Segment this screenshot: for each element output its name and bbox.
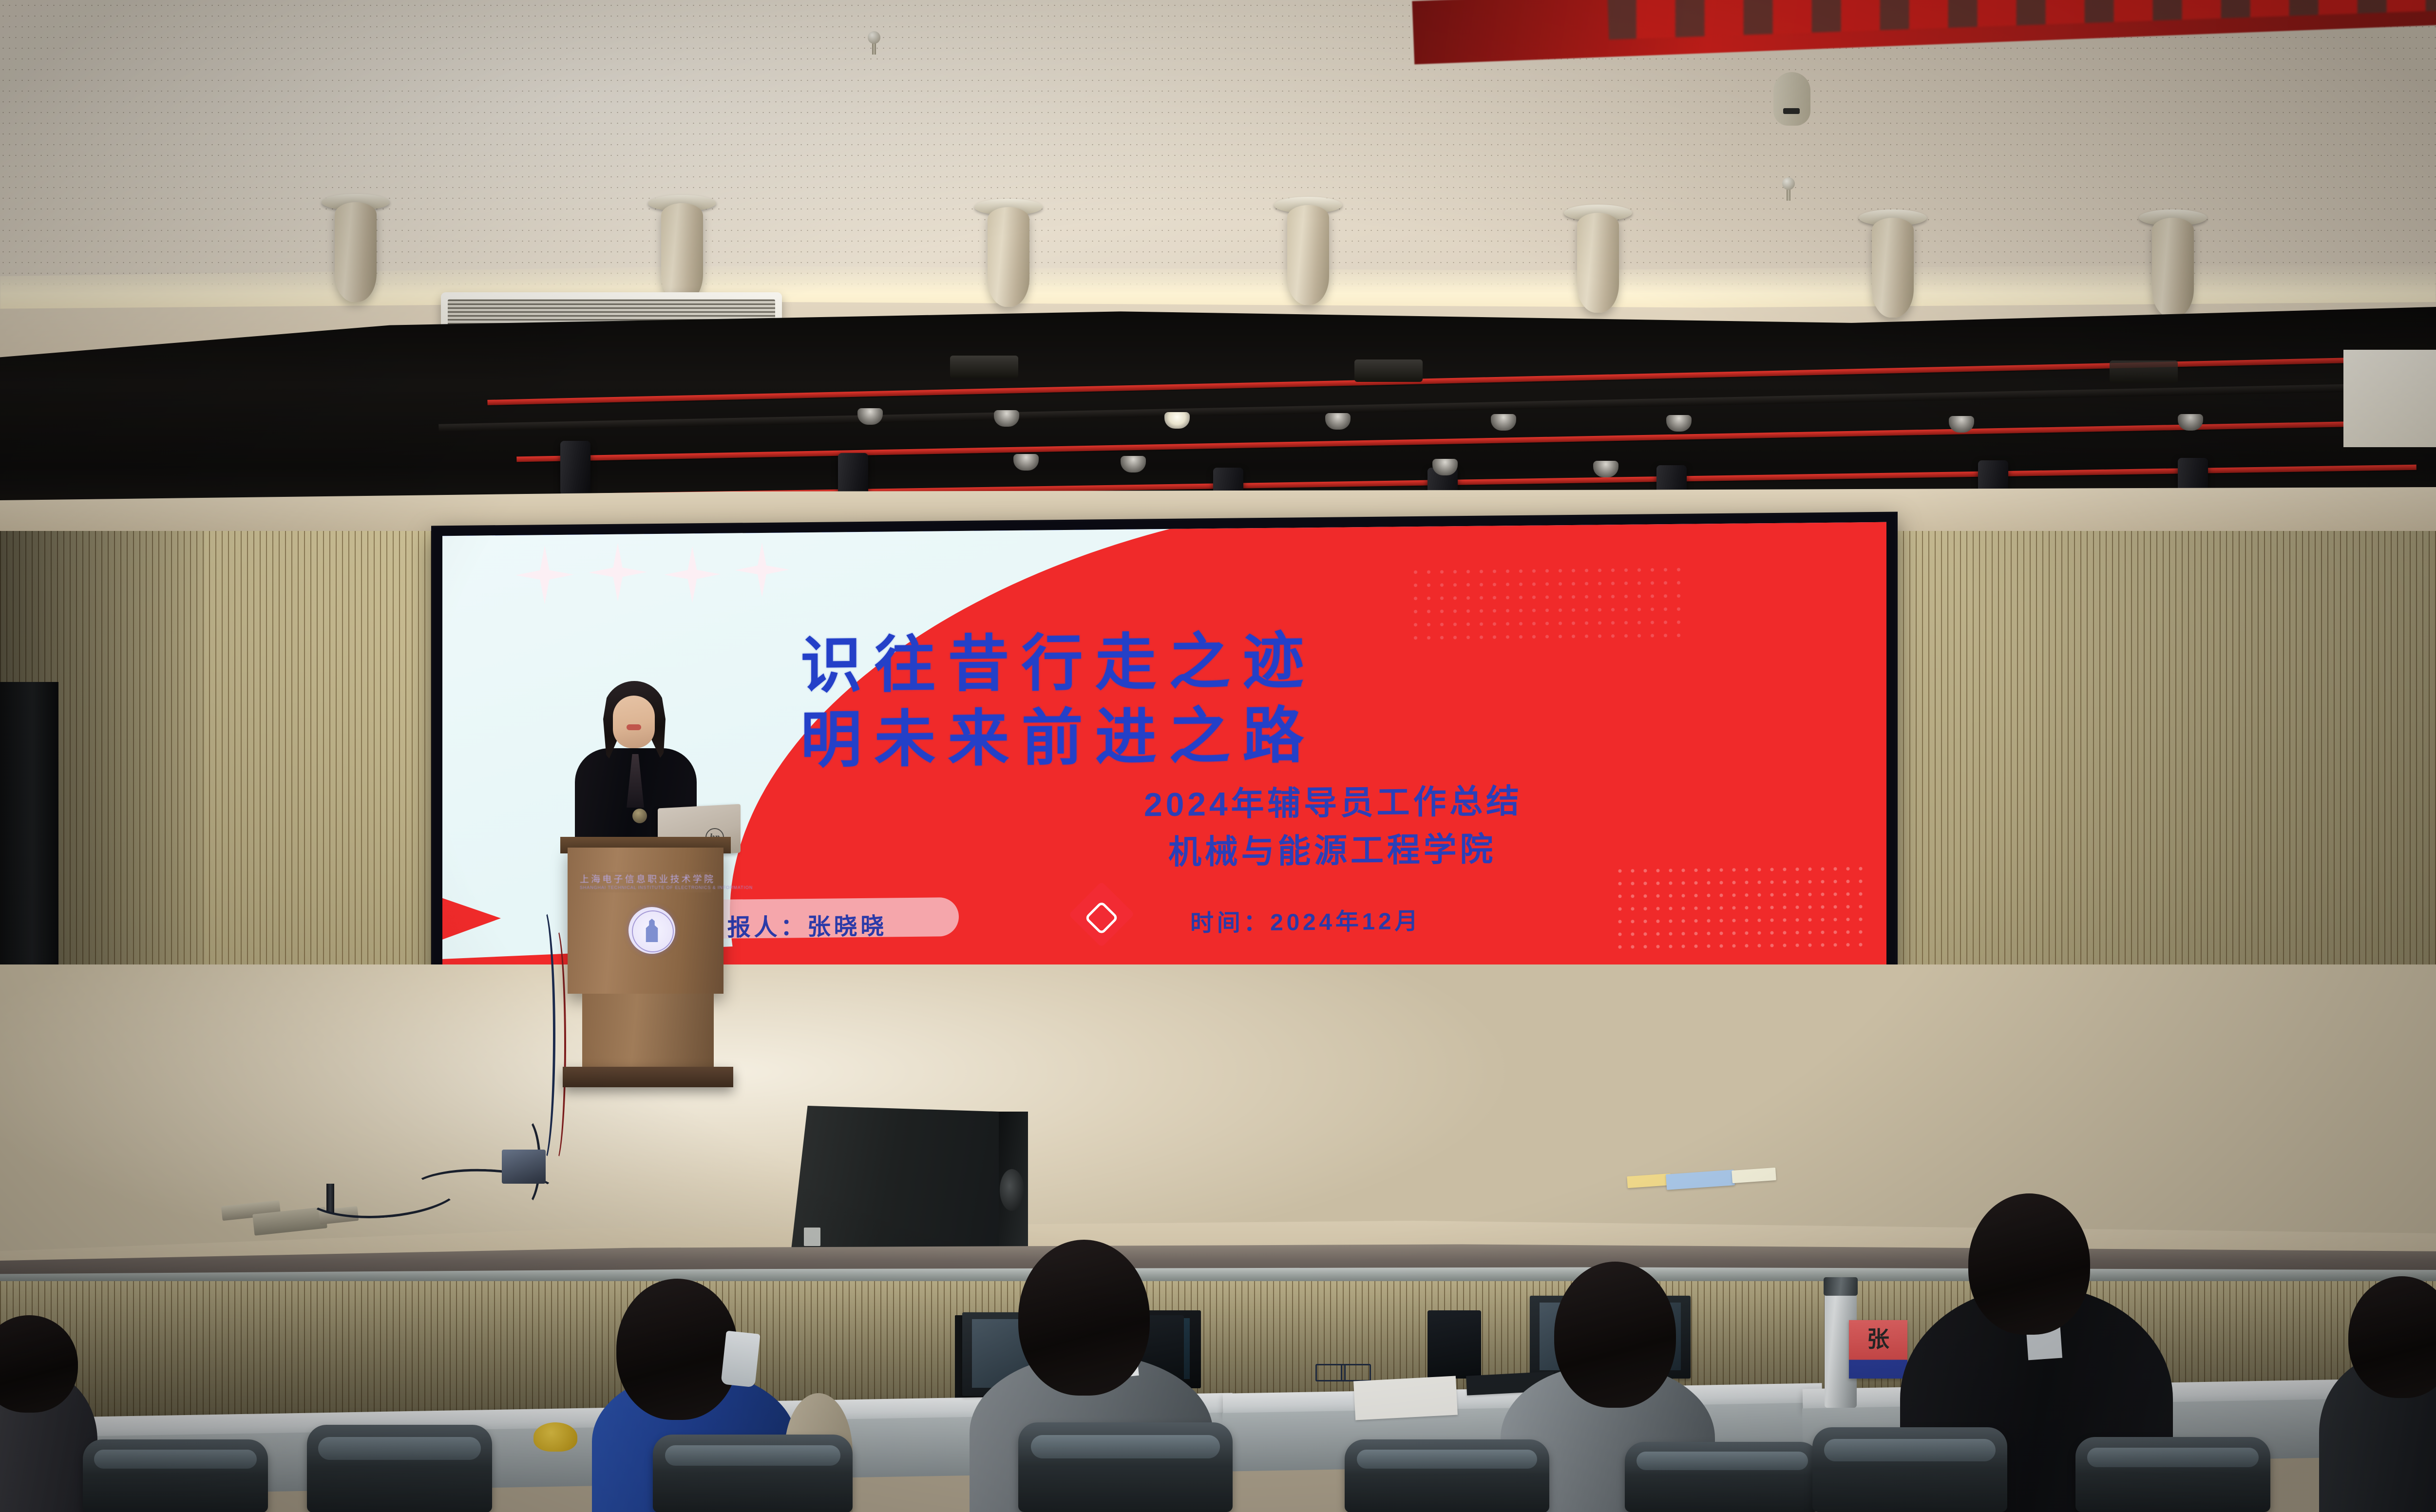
stage-light-icon	[560, 441, 590, 499]
sprinkler-head-icon	[1782, 177, 1795, 190]
slide-subtitle-line-2: 机械与能源工程学院	[1168, 822, 1496, 873]
smoke-detector-icon	[1773, 72, 1810, 126]
podium-nameplate-zh: 上海电子信息职业技术学院	[580, 872, 711, 885]
podium-nameplate-en: SHANGHAI TECHNICAL INSTITUTE OF ELECTRON…	[580, 885, 711, 890]
pendant-speaker-icon	[1287, 205, 1329, 305]
podium-nameplate: 上海电子信息职业技术学院 SHANGHAI TECHNICAL INSTITUT…	[580, 872, 711, 892]
slide-title-line-2: 明未来前进之路	[800, 686, 1316, 779]
water-bottle-cap	[1824, 1277, 1858, 1296]
pendant-speaker-icon	[661, 203, 703, 303]
projector-icon	[2110, 360, 2178, 383]
podium-foot	[563, 1067, 733, 1087]
auditorium-scene: 识往昔行走之迹 明未来前进之路 2024年辅导员工作总结 机械与能源工程学院 汇…	[0, 0, 2436, 1512]
slide-dot-pattern-pink	[1409, 563, 1682, 648]
pendant-speaker-icon	[1872, 218, 1914, 318]
pendant-speaker-icon	[2152, 218, 2194, 318]
university-seal-icon	[628, 907, 675, 954]
slide-subtitle-line-1: 2024年辅导员工作总结	[1144, 774, 1522, 826]
desk-yellow-object	[533, 1422, 577, 1452]
stage-monitor-driver	[1000, 1169, 1024, 1211]
ceiling-access-box	[2343, 350, 2436, 447]
sprinkler-head-icon	[868, 31, 880, 44]
audience-tablet[interactable]	[1427, 1310, 1481, 1379]
audience-chair[interactable]	[1018, 1422, 1233, 1512]
audience-person-head	[1018, 1240, 1150, 1396]
slide-presenter-label: 汇报人：张晓晓	[701, 907, 887, 943]
podium-base	[582, 994, 714, 1072]
projector-icon	[1354, 359, 1423, 382]
slide-dot-pattern-red	[1614, 862, 1867, 957]
audience-chair[interactable]	[1812, 1427, 2007, 1512]
stage-monitor-speaker-icon	[789, 1106, 1018, 1266]
pendant-speaker-icon	[1577, 213, 1619, 313]
face-mask	[721, 1331, 760, 1388]
audience-person-head	[616, 1279, 738, 1420]
presenter-lapel-badge	[632, 809, 647, 823]
desk-papers	[1353, 1376, 1458, 1420]
slide-date-label: 时间：2024年12月	[1190, 902, 1421, 938]
slide-red-triangle	[442, 896, 501, 941]
podium-cable-red	[546, 926, 566, 1163]
pendant-speaker-icon	[988, 207, 1029, 307]
presenter-mouth	[627, 724, 641, 730]
audience-person-head	[1554, 1262, 1676, 1408]
desk-name-card-text: 张	[1849, 1320, 1907, 1358]
audience-person-head	[1968, 1193, 2090, 1335]
projector-icon	[950, 356, 1018, 378]
desk-name-card: 张	[1849, 1320, 1907, 1379]
pendant-speaker-icon	[335, 202, 377, 302]
stage-monitor-label	[804, 1228, 820, 1246]
audience-chair[interactable]	[653, 1435, 853, 1512]
audience-chair[interactable]	[1625, 1442, 1820, 1512]
audience-chair[interactable]	[2075, 1437, 2270, 1512]
eyeglasses	[1341, 1364, 1371, 1381]
audience-chair[interactable]	[307, 1425, 492, 1512]
audience-chair[interactable]	[83, 1439, 268, 1512]
audience-chair[interactable]	[1345, 1439, 1549, 1512]
presenter-face	[613, 696, 655, 748]
